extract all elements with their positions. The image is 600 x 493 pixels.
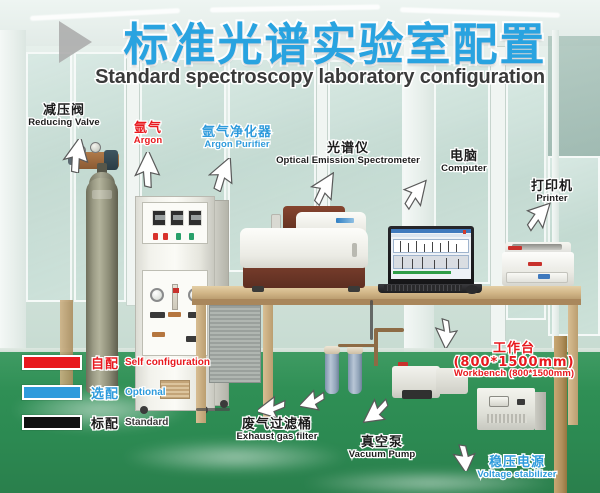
page-title-cn: 标准光谱实验室配置 — [100, 8, 570, 73]
play-triangle-icon — [59, 21, 92, 63]
valve-handle[interactable] — [152, 332, 165, 337]
arrow-to-argon — [131, 152, 167, 188]
indicator-light-red[interactable] — [163, 233, 168, 240]
callout-spectrometer: 光谱仪 Optical Emission Spectrometer — [268, 142, 428, 166]
floor-reflection — [120, 440, 350, 474]
vacuum-hose — [374, 330, 378, 366]
legend-en: Self configuration — [125, 357, 210, 368]
arrow-to-spectrometer — [310, 172, 340, 208]
callout-cn: 真空泵 — [337, 436, 427, 450]
spectrum-plot-lower — [393, 255, 469, 269]
spectrometer-foot — [252, 286, 264, 292]
flow-meter-tube — [172, 284, 178, 310]
vacuum-hose — [374, 328, 404, 332]
callout-en: Computer — [429, 164, 499, 174]
legend-cn: 选配 — [91, 383, 119, 402]
callout-vacuum-pump: 真空泵 Vacuum Pump — [337, 436, 427, 460]
callout-en: Vacuum Pump — [337, 450, 427, 460]
arrow-to-exhaust-filter — [300, 386, 326, 414]
spectrometer-foot — [348, 286, 360, 292]
filter-bottle-cap — [324, 346, 340, 354]
cable — [370, 300, 373, 340]
callout-en: Argon — [118, 136, 178, 146]
callout-en: Voltage stabilizer — [462, 470, 572, 480]
legend-item-standard: 标配 Standard — [22, 412, 210, 433]
poster-title-band: 标准光谱实验室配置 Standard spectroscopy laborato… — [0, 0, 600, 100]
filter-bottle — [325, 352, 339, 394]
arrow-to-argon-purifier — [208, 158, 240, 192]
callout-cn: 电脑 — [429, 150, 499, 164]
display-meter — [188, 210, 202, 226]
laptop-display[interactable] — [391, 229, 471, 279]
indicator-light-red[interactable] — [153, 233, 158, 240]
brand-logo-icon — [336, 218, 354, 223]
status-bar-indicator — [393, 271, 451, 274]
legend-swatch-blue — [22, 385, 82, 400]
arrow-to-vacuum-pump — [363, 395, 389, 427]
callout-en: Optical Emission Spectrometer — [268, 156, 428, 166]
page-title-en: Standard spectroscopy laboratory configu… — [60, 66, 580, 89]
stabilizer-vent — [487, 414, 527, 423]
callout-cn: 氩气净化器 — [182, 126, 292, 140]
callout-workbench: 工作台(800*1500mm) Workbench (800*1500mm) — [434, 342, 594, 379]
power-switch[interactable] — [517, 399, 525, 405]
legend-cn: 自配 — [91, 353, 119, 372]
callout-printer: 打印机 Printer — [512, 180, 592, 204]
callout-cn: 打印机 — [512, 180, 592, 194]
spectrometer-body — [240, 228, 368, 268]
brand-logo-icon — [508, 246, 522, 250]
valve-handle[interactable] — [168, 312, 181, 317]
callout-cn: 工作台(800*1500mm) — [434, 342, 594, 369]
filter-pipe — [338, 344, 376, 347]
filter-bottle-cap — [347, 346, 363, 354]
callout-en: Reducing Valve — [14, 118, 114, 128]
callout-en: Exhaust gas filter — [222, 432, 332, 442]
legend: 自配 Self configuration 选配 Optional 标配 Sta… — [22, 352, 210, 442]
arrow-to-computer — [402, 178, 430, 212]
cylinder-label — [92, 190, 112, 199]
printer-power-button[interactable] — [538, 274, 550, 279]
callout-en: Printer — [512, 194, 592, 204]
close-icon[interactable] — [463, 230, 466, 234]
legend-en: Standard — [125, 417, 168, 428]
pump-base — [402, 390, 432, 399]
legend-item-optional: 选配 Optional — [22, 382, 210, 403]
callout-reducing-valve: 减压阀 Reducing Valve — [14, 104, 114, 128]
laptop-keyboard[interactable] — [384, 285, 462, 291]
legend-item-self-configuration: 自配 Self configuration — [22, 352, 210, 373]
computer-mouse[interactable] — [466, 285, 478, 294]
spectrometer-vent-slot — [352, 243, 357, 257]
filter-bottle — [348, 352, 362, 394]
display-meter — [152, 210, 166, 226]
callout-computer: 电脑 Computer — [429, 150, 499, 174]
callout-cn: 减压阀 — [14, 104, 114, 118]
brand-logo-icon — [528, 262, 542, 266]
arrow-to-printer — [525, 200, 553, 234]
legend-swatch-black — [22, 415, 82, 430]
callout-voltage-stabilizer: 稳压电源 Voltage stabilizer — [462, 456, 572, 480]
legend-cn: 标配 — [91, 413, 119, 432]
stabilizer-side — [535, 392, 546, 430]
legend-swatch-red — [22, 355, 82, 370]
display-meter — [170, 210, 184, 226]
valve-handle[interactable] — [150, 312, 165, 318]
printer-paper-tray[interactable] — [506, 272, 568, 283]
callout-cn: 废气过滤桶 — [222, 418, 332, 432]
indicator-light-green[interactable] — [176, 233, 181, 240]
callout-argon: 氩气 Argon — [118, 122, 178, 146]
callout-exhaust-filter: 废气过滤桶 Exhaust gas filter — [222, 418, 332, 442]
spectrum-plot-upper — [393, 239, 469, 253]
arrow-to-reducing-valve — [61, 139, 95, 173]
voltage-meter — [489, 396, 509, 407]
software-titlebar — [391, 229, 471, 233]
legend-en: Optional — [125, 387, 166, 398]
software-toolbar — [391, 234, 471, 237]
pressure-gauge-icon — [150, 288, 164, 302]
bench-side-panel — [209, 305, 261, 383]
callout-cn: 稳压电源 — [462, 456, 572, 470]
stabilizer-body — [477, 388, 535, 430]
indicator-light-green[interactable] — [189, 233, 194, 240]
laboratory-configuration-poster: 标准光谱实验室配置 Standard spectroscopy laborato… — [0, 0, 600, 493]
callout-cn: 氩气 — [118, 122, 178, 136]
callout-en: Workbench (800*1500mm) — [434, 369, 594, 379]
callout-cn: 光谱仪 — [268, 142, 428, 156]
caster-wheel — [220, 400, 228, 408]
